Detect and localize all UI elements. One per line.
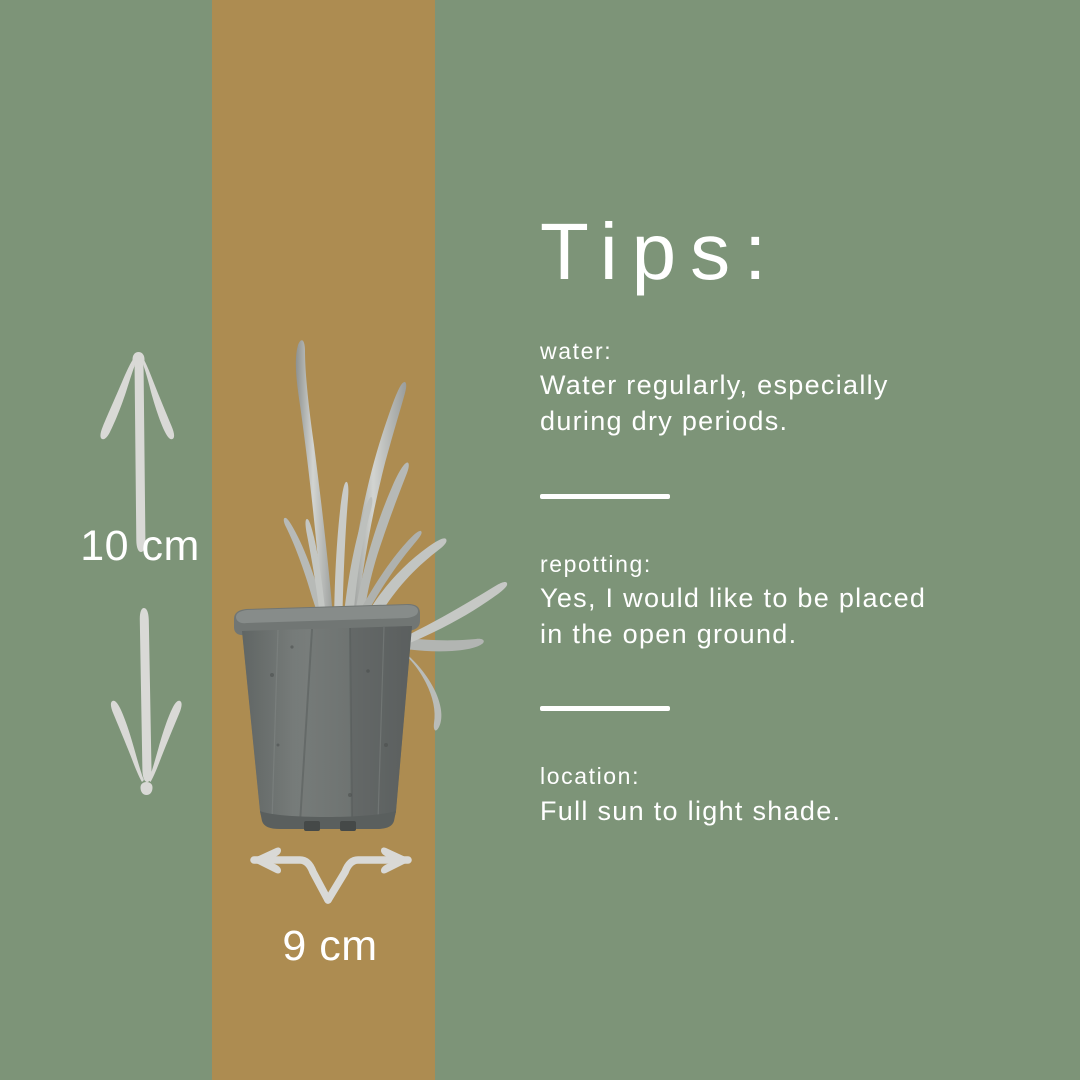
tip-text-line: in the open ground. xyxy=(540,617,1040,653)
tip-text-repotting: Yes, I would like to be placed in the op… xyxy=(540,581,1040,652)
tip-label-location: location: xyxy=(540,761,1040,791)
plant-care-infographic: 10 cm 9 cm xyxy=(0,0,1080,1080)
tip-text-line: Yes, I would like to be placed xyxy=(540,581,1040,617)
double-arrow-vertical-icon xyxy=(88,340,198,820)
tip-text-location: Full sun to light shade. xyxy=(540,794,1040,830)
tip-text-line: Water regularly, especially xyxy=(540,368,1040,404)
section-divider xyxy=(540,706,670,711)
tips-panel: Tips: water: Water regularly, especially… xyxy=(540,210,1040,829)
tips-title: Tips: xyxy=(540,210,1040,294)
tip-section-water: water: Water regularly, especially durin… xyxy=(540,336,1040,440)
tip-label-water: water: xyxy=(540,336,1040,366)
width-label: 9 cm xyxy=(240,925,420,968)
tip-section-repotting: repotting: Yes, I would like to be place… xyxy=(540,549,1040,653)
tip-text-line: during dry periods. xyxy=(540,404,1040,440)
tip-section-location: location: Full sun to light shade. xyxy=(540,761,1040,829)
section-divider xyxy=(540,494,670,499)
background-gold-band xyxy=(212,0,435,1080)
height-label: 10 cm xyxy=(60,525,220,568)
tip-label-repotting: repotting: xyxy=(540,549,1040,579)
tip-text-water: Water regularly, especially during dry p… xyxy=(540,368,1040,439)
height-measure xyxy=(88,340,198,820)
tip-text-line: Full sun to light shade. xyxy=(540,794,1040,830)
double-arrow-horizontal-icon xyxy=(240,843,420,905)
width-measure xyxy=(240,843,420,905)
